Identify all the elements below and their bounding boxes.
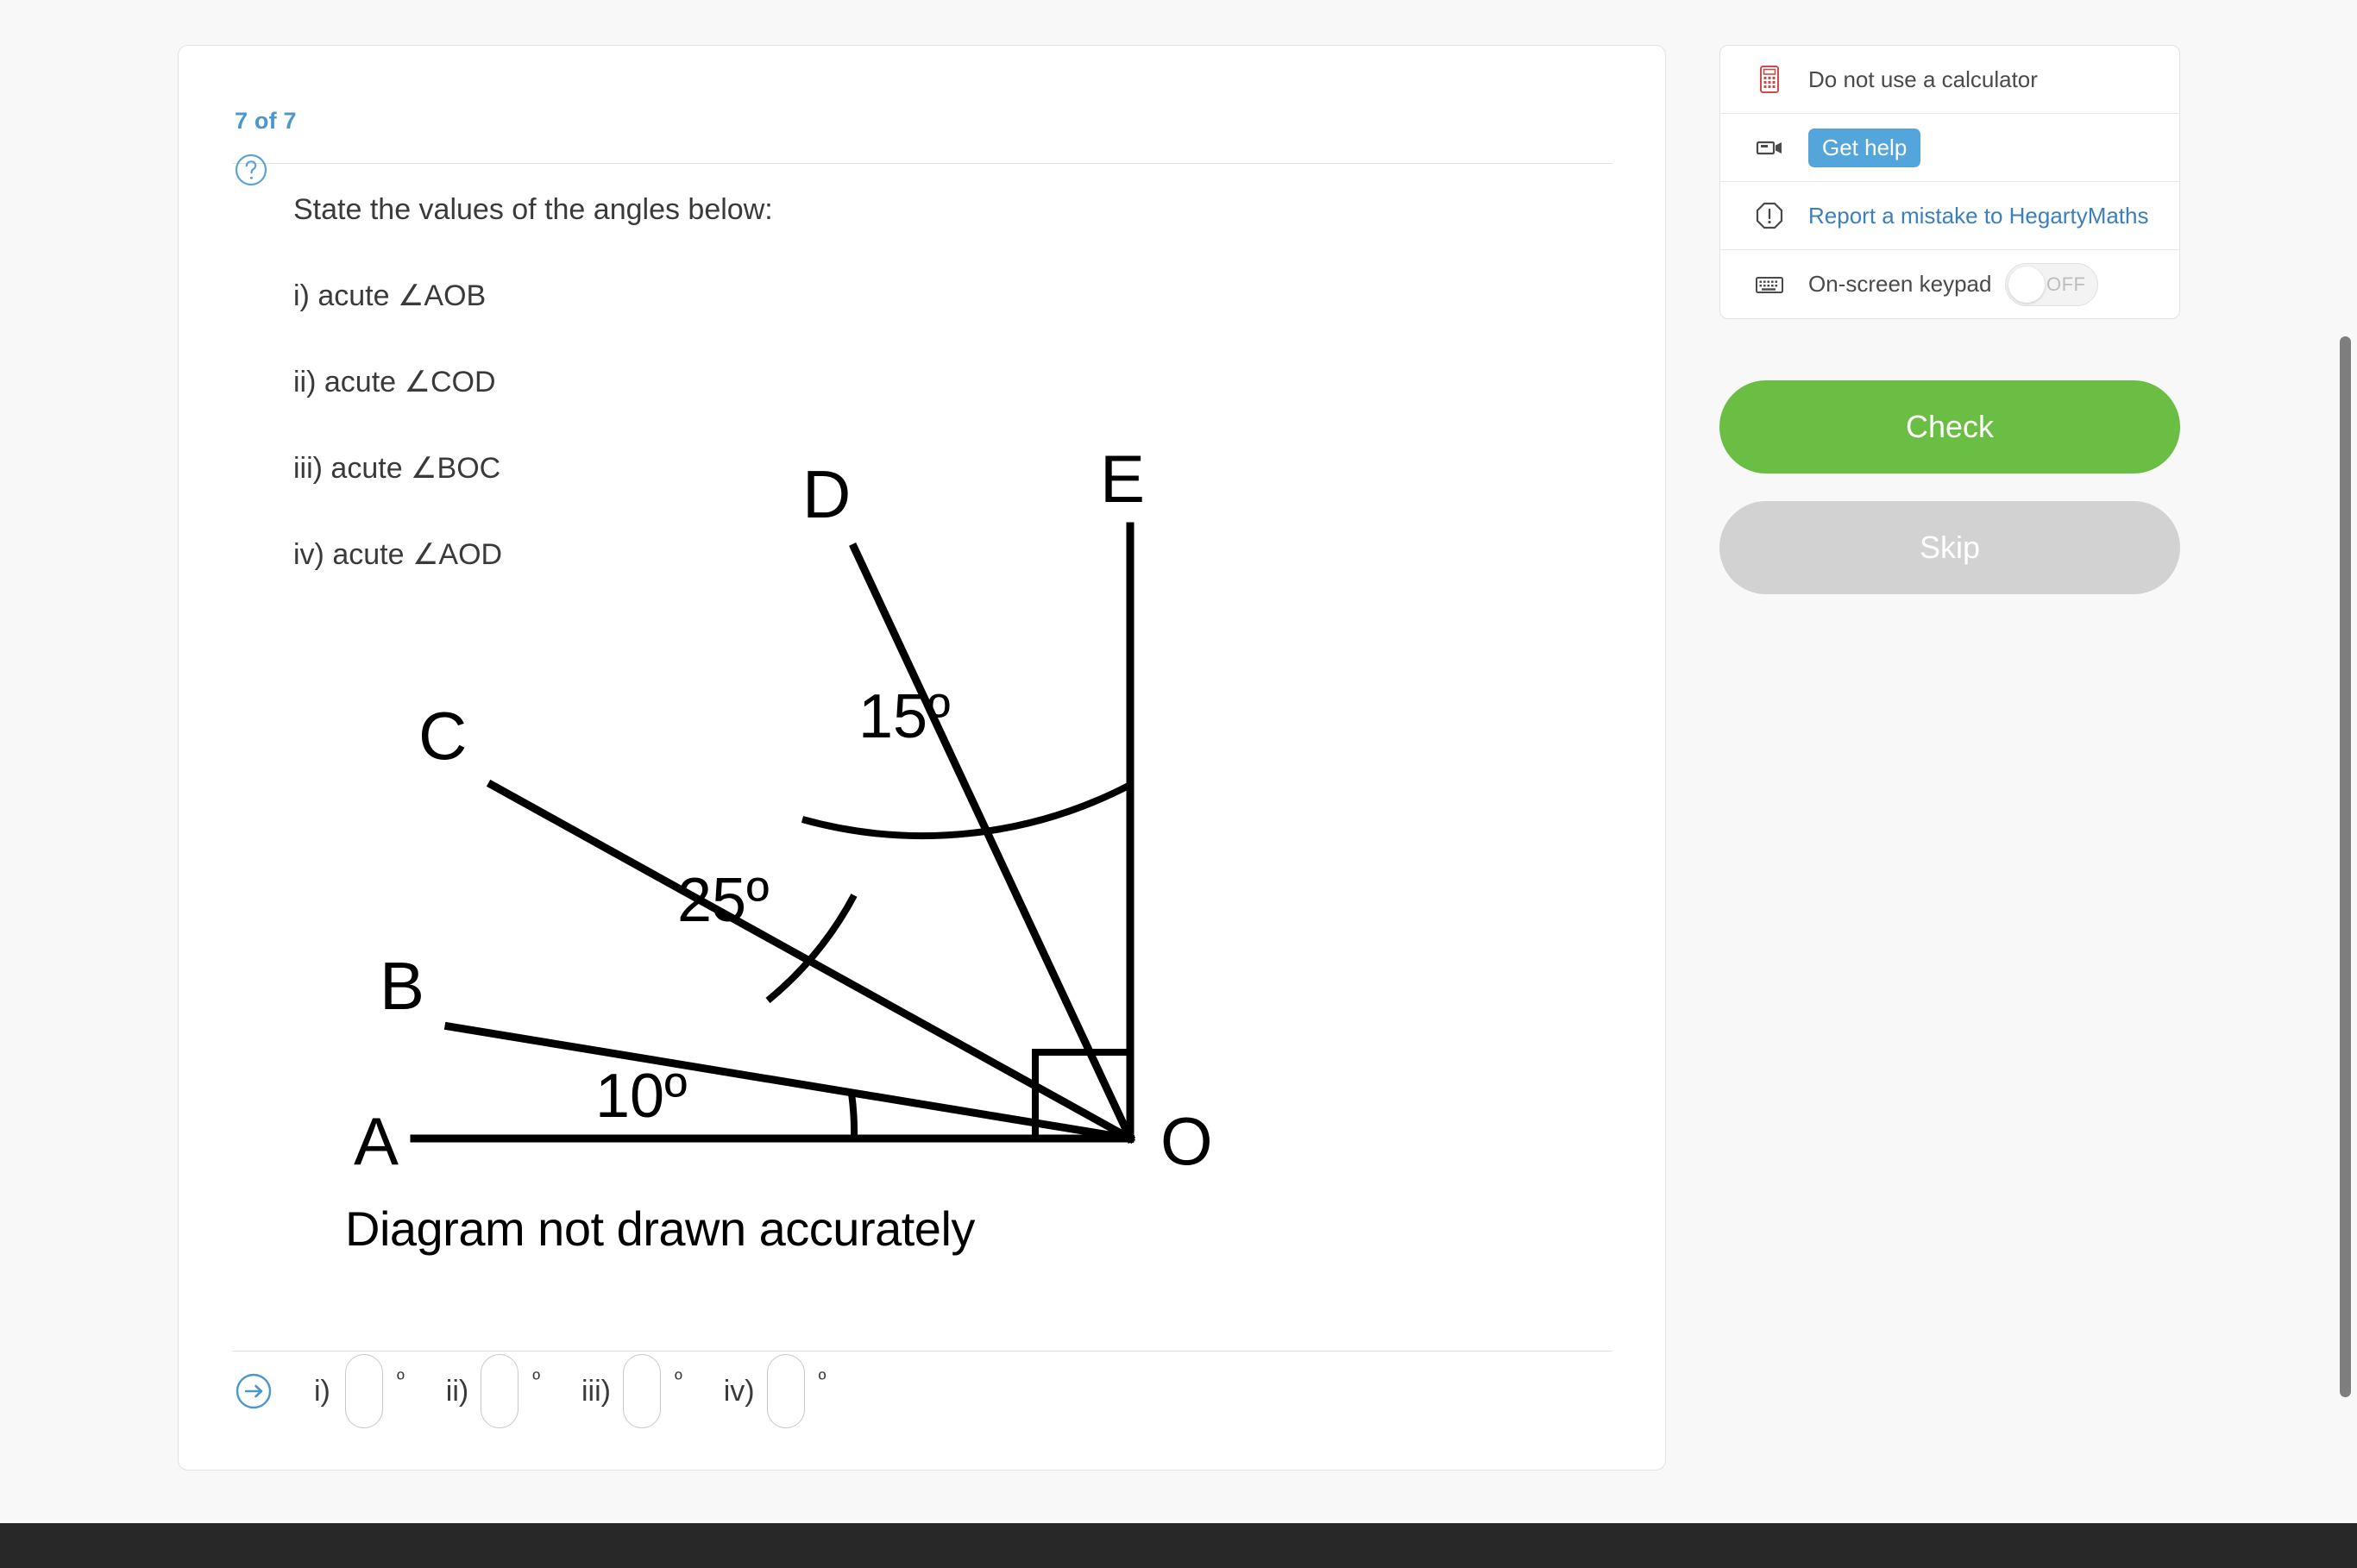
skip-button[interactable]: Skip	[1719, 501, 2180, 594]
degree-symbol-ii: º	[532, 1368, 540, 1392]
answer-input-i[interactable]	[345, 1354, 383, 1428]
bottom-bar	[0, 1523, 2357, 1568]
answer-input-ii[interactable]	[481, 1354, 519, 1428]
app-root: 7 of 7 State the values of the angles be…	[0, 0, 2357, 1568]
keyboard-icon	[1755, 270, 1784, 299]
diagram-caption: Diagram not drawn accurately	[345, 1201, 975, 1257]
tool-row-calculator: Do not use a calculator	[1720, 46, 2179, 114]
tool-row-keypad: On-screen keypad OFF	[1720, 250, 2179, 318]
degree-symbol-iv: º	[819, 1368, 827, 1392]
question-prompt: State the values of the angles below:	[293, 188, 1329, 231]
angle-label-25: 25º	[677, 866, 769, 935]
get-help-button[interactable]: Get help	[1808, 129, 1920, 167]
arrow-right-circle-icon[interactable]	[235, 1372, 273, 1410]
question-part-ii: ii) acute ∠COD	[293, 361, 1329, 404]
toggle-knob	[2008, 267, 2045, 303]
answer-group-ii: ii) º	[446, 1354, 581, 1428]
sidebar: Do not use a calculator Get help	[1719, 45, 2180, 594]
keypad-label: On-screen keypad	[1808, 271, 1991, 298]
tool-row-get-help[interactable]: Get help	[1720, 114, 2179, 182]
answer-input-iii[interactable]	[623, 1354, 661, 1428]
tool-row-report-mistake[interactable]: Report a mistake to HegartyMaths	[1720, 182, 2179, 250]
answer-group-iv: iv) º	[724, 1354, 827, 1428]
answer-group-iii: iii) º	[581, 1354, 724, 1428]
arc-10	[852, 1094, 854, 1138]
label-C: C	[418, 698, 467, 774]
answer-label-i: i)	[314, 1375, 333, 1408]
angle-label-15: 15º	[858, 682, 950, 751]
tools-panel: Do not use a calculator Get help	[1719, 45, 2180, 319]
question-mark-circle-icon[interactable]	[234, 153, 268, 187]
angle-label-10: 10º	[595, 1062, 687, 1131]
calculator-icon	[1755, 65, 1784, 94]
warning-octagon-icon	[1755, 201, 1784, 230]
diagram-rays	[414, 526, 1130, 1138]
label-O: O	[1160, 1103, 1213, 1179]
angle-diagram: A B C D E O 10º 25º 15º	[285, 448, 1406, 1276]
label-E: E	[1100, 448, 1145, 517]
answer-row: i) º ii) º iii) º iv) º	[235, 1344, 826, 1439]
answer-group-i: i) º	[314, 1354, 446, 1428]
toggle-state-label: OFF	[2046, 273, 2086, 296]
diagram-point-labels: A B C D E O	[354, 448, 1213, 1179]
diagram-angle-values: 10º 25º 15º	[595, 682, 950, 1131]
degree-symbol-iii: º	[675, 1368, 682, 1392]
label-A: A	[354, 1103, 399, 1179]
video-camera-icon	[1755, 133, 1784, 162]
keypad-toggle[interactable]: OFF	[2005, 263, 2098, 306]
calculator-label: Do not use a calculator	[1808, 66, 2038, 93]
label-B: B	[380, 948, 424, 1024]
answer-label-iii: iii)	[581, 1375, 611, 1408]
page-scrollbar[interactable]	[2340, 336, 2351, 1397]
degree-symbol-i: º	[397, 1368, 405, 1392]
label-D: D	[802, 456, 851, 532]
check-button[interactable]: Check	[1719, 380, 2180, 474]
question-part-i: i) acute ∠AOB	[293, 274, 1329, 317]
progress-indicator: 7 of 7	[235, 108, 297, 135]
report-mistake-link[interactable]: Report a mistake to HegartyMaths	[1808, 203, 2149, 229]
answer-label-iv: iv)	[724, 1375, 755, 1408]
answer-input-iv[interactable]	[767, 1354, 805, 1428]
answer-label-ii: ii)	[446, 1375, 468, 1408]
